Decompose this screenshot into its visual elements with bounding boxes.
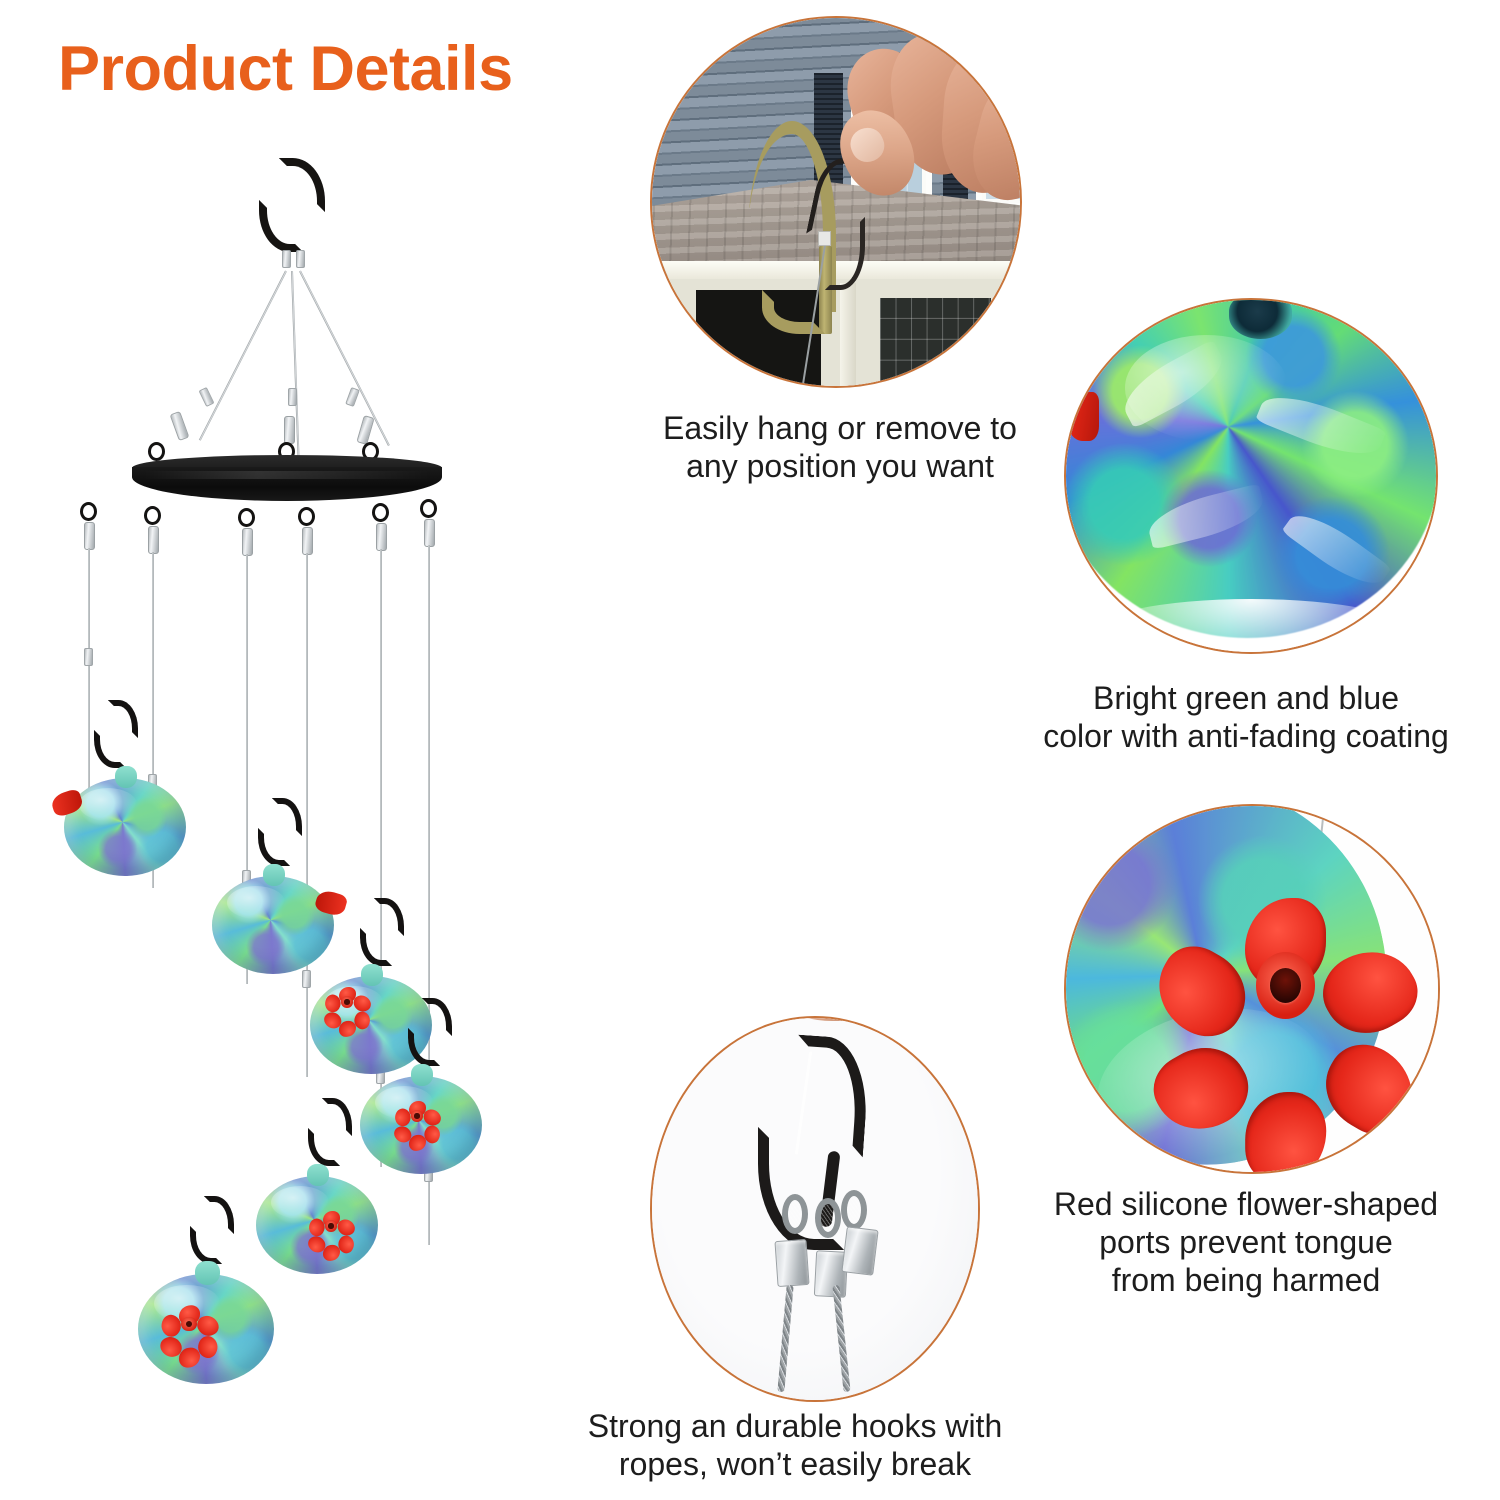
cable-connector <box>356 415 374 445</box>
feeding-hole <box>328 1223 333 1228</box>
black-top-plate <box>132 455 442 511</box>
feeder-neck <box>307 1164 329 1186</box>
attachment-ring <box>420 499 437 518</box>
feeder-neck <box>263 864 285 886</box>
red-flower-port <box>1207 898 1363 1074</box>
feeder-s-hook <box>258 798 304 868</box>
feeder-s-hook <box>360 898 406 968</box>
attachment-ring <box>298 507 315 526</box>
s-hook-lower <box>408 1028 440 1066</box>
finger <box>721 1016 799 1023</box>
red-flower-port <box>314 1210 348 1242</box>
cable-connector <box>376 523 387 551</box>
cable-connector <box>148 526 159 554</box>
plate-sheen <box>144 471 429 479</box>
glass-feeder-ball <box>64 778 186 876</box>
cable-connector <box>170 411 190 441</box>
attachment-ring <box>372 503 389 522</box>
feeder-s-hook <box>408 998 454 1068</box>
cable-connector <box>84 522 95 550</box>
feeder-neck <box>411 1064 433 1086</box>
red-flower-port <box>330 986 364 1018</box>
crimp-ferrule <box>774 1238 809 1286</box>
feature-caption-hooks: Strong an durable hooks with ropes, won’… <box>540 1408 1050 1484</box>
s-hook-lower <box>190 1226 222 1264</box>
attachment-ring <box>238 508 255 527</box>
flower-petal <box>1309 1031 1429 1147</box>
porch-post <box>840 283 857 388</box>
feeder-highlight <box>79 788 138 821</box>
photo-glass-ball-swirled-green-blue-closeup <box>1064 298 1438 654</box>
porch-window <box>880 298 990 388</box>
top-s-hook-lower <box>259 200 303 252</box>
hand <box>843 33 1022 224</box>
cable-connector <box>84 648 93 666</box>
support-cable <box>299 271 390 447</box>
glass-feeder-ball <box>212 876 334 974</box>
attachment-ring <box>144 506 161 525</box>
top-s-hook <box>257 158 327 258</box>
attachment-ring <box>80 502 97 521</box>
cable-crimp <box>818 231 831 246</box>
feeding-hole <box>414 1113 419 1118</box>
steel-rope-loop <box>841 1190 867 1230</box>
port-closeup-scene <box>1066 806 1438 1172</box>
feeder-s-hook <box>94 700 140 770</box>
cable-connector <box>296 250 305 268</box>
feature-caption-port: Red silicone flower-shaped ports prevent… <box>1000 1186 1492 1299</box>
cable-connector <box>284 416 295 444</box>
cable-connector <box>199 387 215 407</box>
glass-closeup-scene <box>1066 300 1436 652</box>
photo-hand-hanging-brass-s-hook-on-house-bracket <box>650 16 1022 388</box>
s-hook-lower <box>94 730 126 768</box>
steel-rope <box>832 1285 850 1392</box>
flower-petal <box>1309 934 1429 1050</box>
s-hook-lower <box>308 1128 340 1166</box>
drop-cable <box>306 553 308 1077</box>
glass-feeder-ball <box>256 1176 378 1274</box>
glass-bottom-fade <box>1088 599 1414 654</box>
hook-closeup-scene <box>652 1018 978 1400</box>
crimp-ferrule <box>842 1226 879 1276</box>
feature-caption-hang: Easily hang or remove to any position yo… <box>620 410 1060 486</box>
feature-caption-color: Bright green and blue color with anti-fa… <box>1000 680 1492 756</box>
page-title: Product Details <box>58 38 513 101</box>
finger <box>794 1016 877 1021</box>
cable-connector <box>302 527 313 555</box>
product-details-page: Product Details <box>0 0 1500 1500</box>
glass-highlight <box>1125 335 1288 441</box>
feeder-neck <box>195 1261 219 1285</box>
feeding-hole <box>1270 968 1301 1003</box>
s-hook-lower <box>360 928 392 966</box>
feeder-s-hook <box>308 1098 354 1168</box>
product-image-hanging-hummingbird-feeder-wind-chime <box>60 150 530 1480</box>
house-background <box>652 18 1020 386</box>
glass-neck-opening <box>1229 298 1292 339</box>
support-cable <box>199 271 287 441</box>
cable-connector <box>242 528 253 556</box>
feeder-s-hook <box>190 1196 236 1266</box>
steel-rope-loop <box>815 1198 841 1238</box>
glass-feeder-ball <box>138 1274 274 1384</box>
drop-cable <box>88 548 90 788</box>
cable-connector <box>345 387 360 407</box>
cable-connector <box>288 388 297 406</box>
steel-rope <box>778 1285 794 1392</box>
photo-red-silicone-flower-port-closeup <box>1064 804 1440 1174</box>
red-flower-port <box>400 1100 434 1132</box>
cable-connector <box>282 250 291 268</box>
s-hook-lower <box>258 828 290 866</box>
red-flower-port <box>168 1304 210 1344</box>
photo-fingers-holding-black-s-hook-with-steel-ropes <box>650 1016 980 1402</box>
red-port-edge <box>1066 392 1099 441</box>
feeding-hole <box>344 999 349 1004</box>
feeder-neck <box>361 964 383 986</box>
feeder-neck <box>115 766 137 788</box>
door-knob <box>719 385 733 388</box>
cable-connector <box>424 519 435 547</box>
feeder-highlight <box>227 886 286 919</box>
glass-feeder-ball <box>360 1076 482 1174</box>
